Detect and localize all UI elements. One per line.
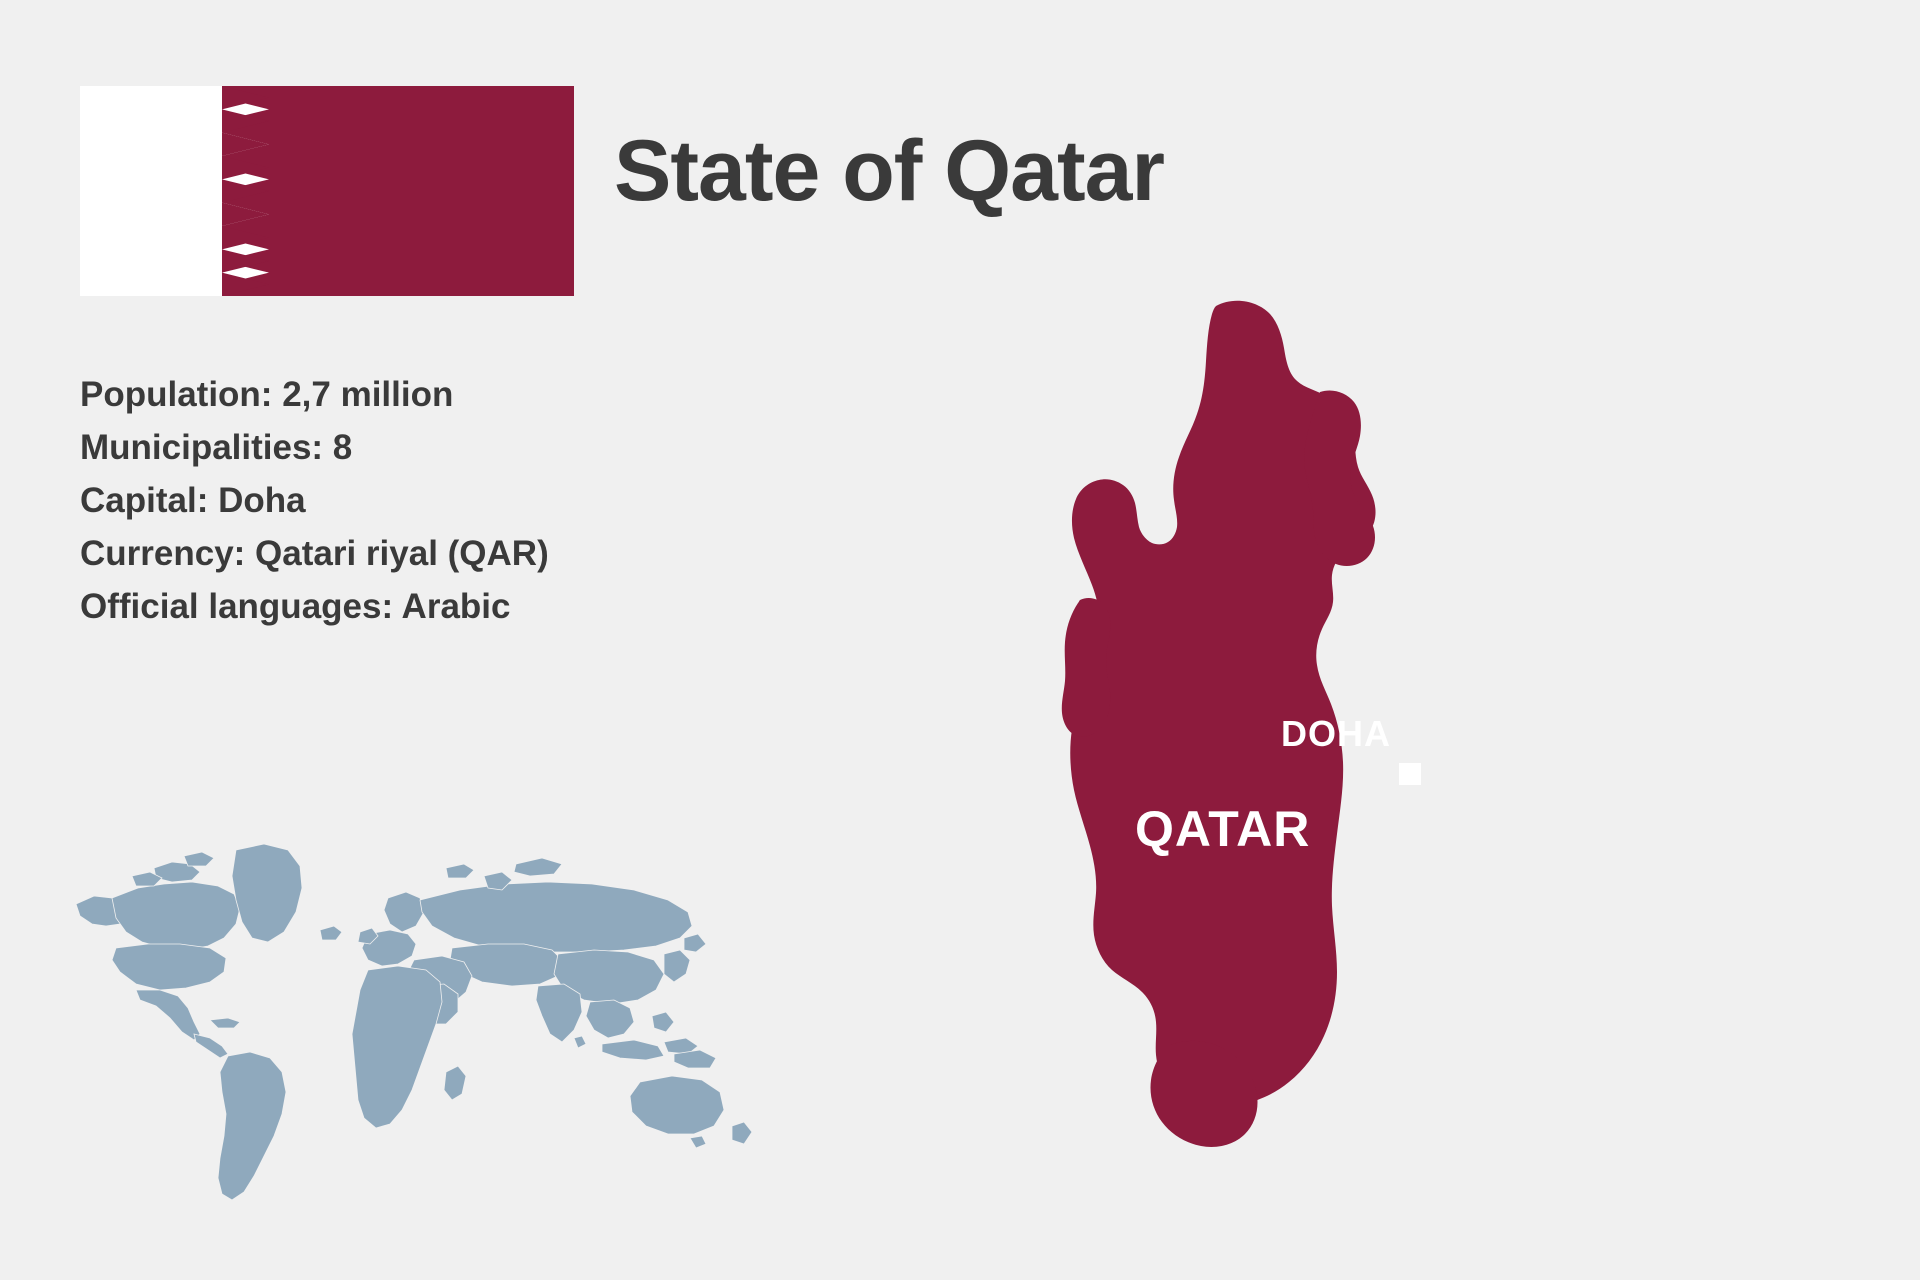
region-caribbean bbox=[210, 1018, 240, 1028]
region-arctic-russia-islands bbox=[514, 858, 562, 876]
region-philippines bbox=[652, 1012, 674, 1032]
infographic-canvas: State of Qatar Population: 2,7 million M… bbox=[0, 0, 1920, 1280]
world-map-svg bbox=[68, 820, 768, 1220]
flag-of-qatar bbox=[80, 86, 574, 296]
country-facts-list: Population: 2,7 million Municipalities: … bbox=[80, 368, 549, 633]
region-indonesia-1 bbox=[602, 1040, 664, 1060]
fact-currency: Currency: Qatari riyal (QAR) bbox=[80, 527, 549, 580]
region-new-zealand bbox=[732, 1122, 752, 1144]
region-madagascar bbox=[444, 1066, 466, 1100]
capital-marker-icon bbox=[1399, 763, 1421, 785]
world-locator-map bbox=[68, 820, 768, 1220]
region-japan-north bbox=[684, 934, 706, 952]
region-new-guinea bbox=[674, 1050, 716, 1068]
qatar-country-map bbox=[1020, 300, 1460, 1160]
qatar-map-svg bbox=[1020, 300, 1460, 1160]
region-russia bbox=[420, 882, 692, 952]
country-name-label: QATAR bbox=[1135, 800, 1310, 858]
fact-population: Population: 2,7 million bbox=[80, 368, 549, 421]
page-title: State of Qatar bbox=[614, 128, 1164, 214]
qatar-west-inlet bbox=[1062, 598, 1111, 737]
region-korea-japan bbox=[664, 950, 690, 982]
world-landmasses bbox=[76, 844, 752, 1200]
flag-svg bbox=[80, 86, 574, 296]
region-india bbox=[536, 984, 582, 1042]
fact-official-languages: Official languages: Arabic bbox=[80, 580, 549, 633]
region-greenland bbox=[232, 844, 302, 942]
region-southeast-asia bbox=[586, 1000, 634, 1038]
region-tasmania bbox=[690, 1136, 706, 1148]
region-usa bbox=[112, 944, 226, 990]
region-africa bbox=[352, 966, 442, 1128]
region-iceland bbox=[320, 926, 342, 940]
region-mexico bbox=[136, 990, 200, 1040]
capital-city-label: DOHA bbox=[1281, 713, 1391, 755]
region-svalbard bbox=[446, 864, 474, 878]
region-scandinavia bbox=[384, 892, 424, 932]
region-canada bbox=[112, 882, 240, 950]
fact-capital: Capital: Doha bbox=[80, 474, 549, 527]
region-arctic-islands-3 bbox=[184, 852, 214, 866]
region-south-america bbox=[218, 1052, 286, 1200]
region-australia bbox=[630, 1076, 724, 1134]
region-central-america bbox=[194, 1034, 228, 1058]
region-sri-lanka bbox=[574, 1036, 586, 1048]
flag-maroon-field bbox=[269, 86, 574, 296]
fact-municipalities: Municipalities: 8 bbox=[80, 421, 549, 474]
